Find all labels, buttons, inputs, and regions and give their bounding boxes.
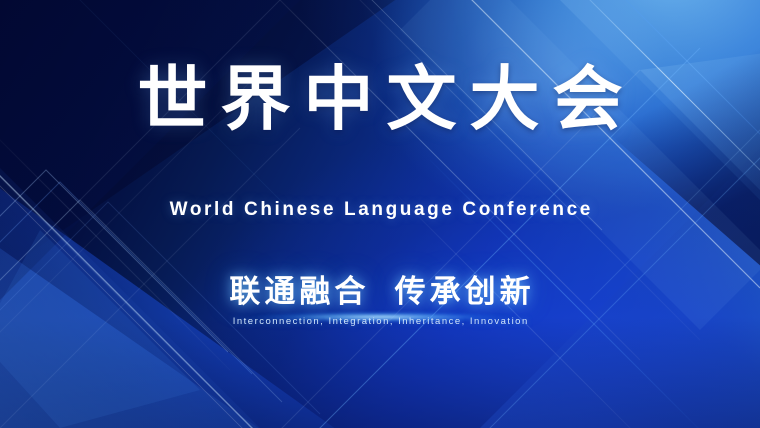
- page-title-chinese: 世界中文大会: [125, 64, 636, 134]
- slogan-chinese: 联通融合 传承创新: [225, 275, 534, 309]
- conference-poster: 世界中文大会 World Chinese Language Conference…: [0, 0, 760, 428]
- slogan-block: 联通融合 传承创新 Interconnection, Integration, …: [225, 275, 534, 327]
- poster-content: 世界中文大会 World Chinese Language Conference…: [0, 0, 760, 428]
- slogan-english: Interconnection, Integration, Inheritanc…: [231, 316, 529, 327]
- page-title-english: World Chinese Language Conference: [167, 199, 593, 221]
